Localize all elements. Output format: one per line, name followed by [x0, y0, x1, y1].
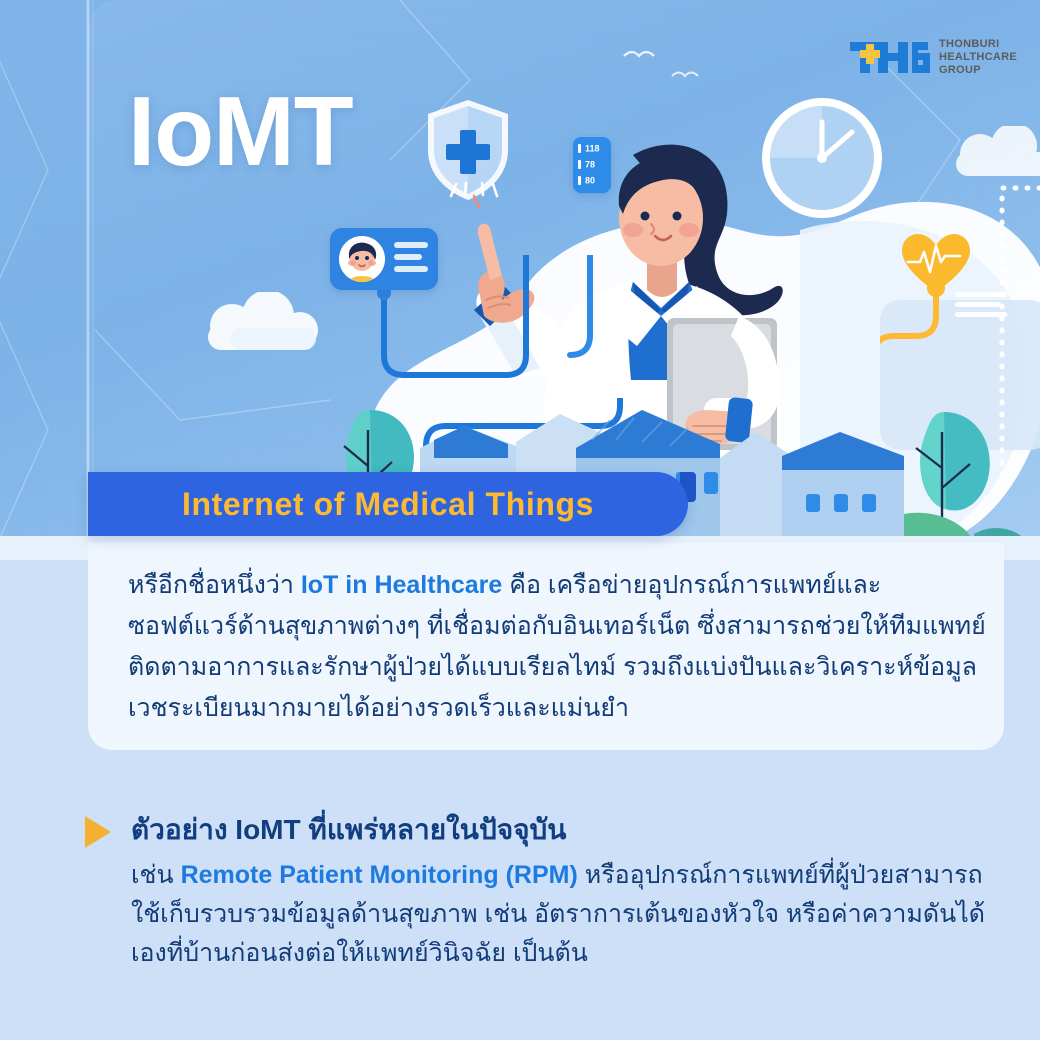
bird-icon	[620, 42, 730, 92]
logo-line-3: GROUP	[939, 64, 1017, 77]
systolic-value: 118	[585, 144, 600, 154]
pulse-value: 80	[585, 176, 595, 186]
page-title: IoMT	[128, 82, 353, 180]
diastolic-value: 78	[585, 160, 595, 170]
example-paragraph: เช่น Remote Patient Monitoring (RPM) หรื…	[131, 856, 991, 973]
intro-paragraph: หรือีกชื่อหนึ่งว่า IoT in Healthcare คือ…	[128, 565, 988, 729]
iot-in-healthcare-link: IoT in Healthcare	[301, 571, 502, 599]
rpm-link: Remote Patient Monitoring (RPM)	[181, 861, 578, 889]
patient-avatar-icon	[339, 236, 385, 282]
thg-logo-icon	[848, 36, 930, 78]
profile-text-lines	[394, 242, 428, 278]
section-heading: ตัวอย่าง IoMT ที่แพร่หลายในปัจจุบัน	[131, 808, 566, 852]
patient-profile-card[interactable]	[330, 228, 438, 290]
triangle-bullet-icon	[85, 816, 111, 848]
vital-signs-monitor[interactable]: 118 78 80	[573, 137, 611, 193]
logo-line-2: HEALTHCARE	[939, 51, 1017, 64]
example-text-a: เช่น	[131, 861, 181, 889]
infographic-canvas: 118 78 80	[0, 0, 1040, 1040]
logo-line-1: THONBURI	[939, 38, 1017, 51]
shield-spark-icon	[448, 182, 500, 208]
intro-text-a: หรือีกชื่อหนึ่งว่า	[128, 571, 301, 599]
banner: Internet of Medical Things	[88, 472, 688, 536]
banner-text: Internet of Medical Things	[182, 486, 594, 523]
heart-rate-text-lines	[955, 292, 1007, 322]
thg-logo-text: THONBURI HEALTHCARE GROUP	[939, 38, 1017, 77]
heart-rate-icon[interactable]	[900, 232, 972, 296]
thg-logo[interactable]: THONBURI HEALTHCARE GROUP	[848, 36, 1017, 78]
